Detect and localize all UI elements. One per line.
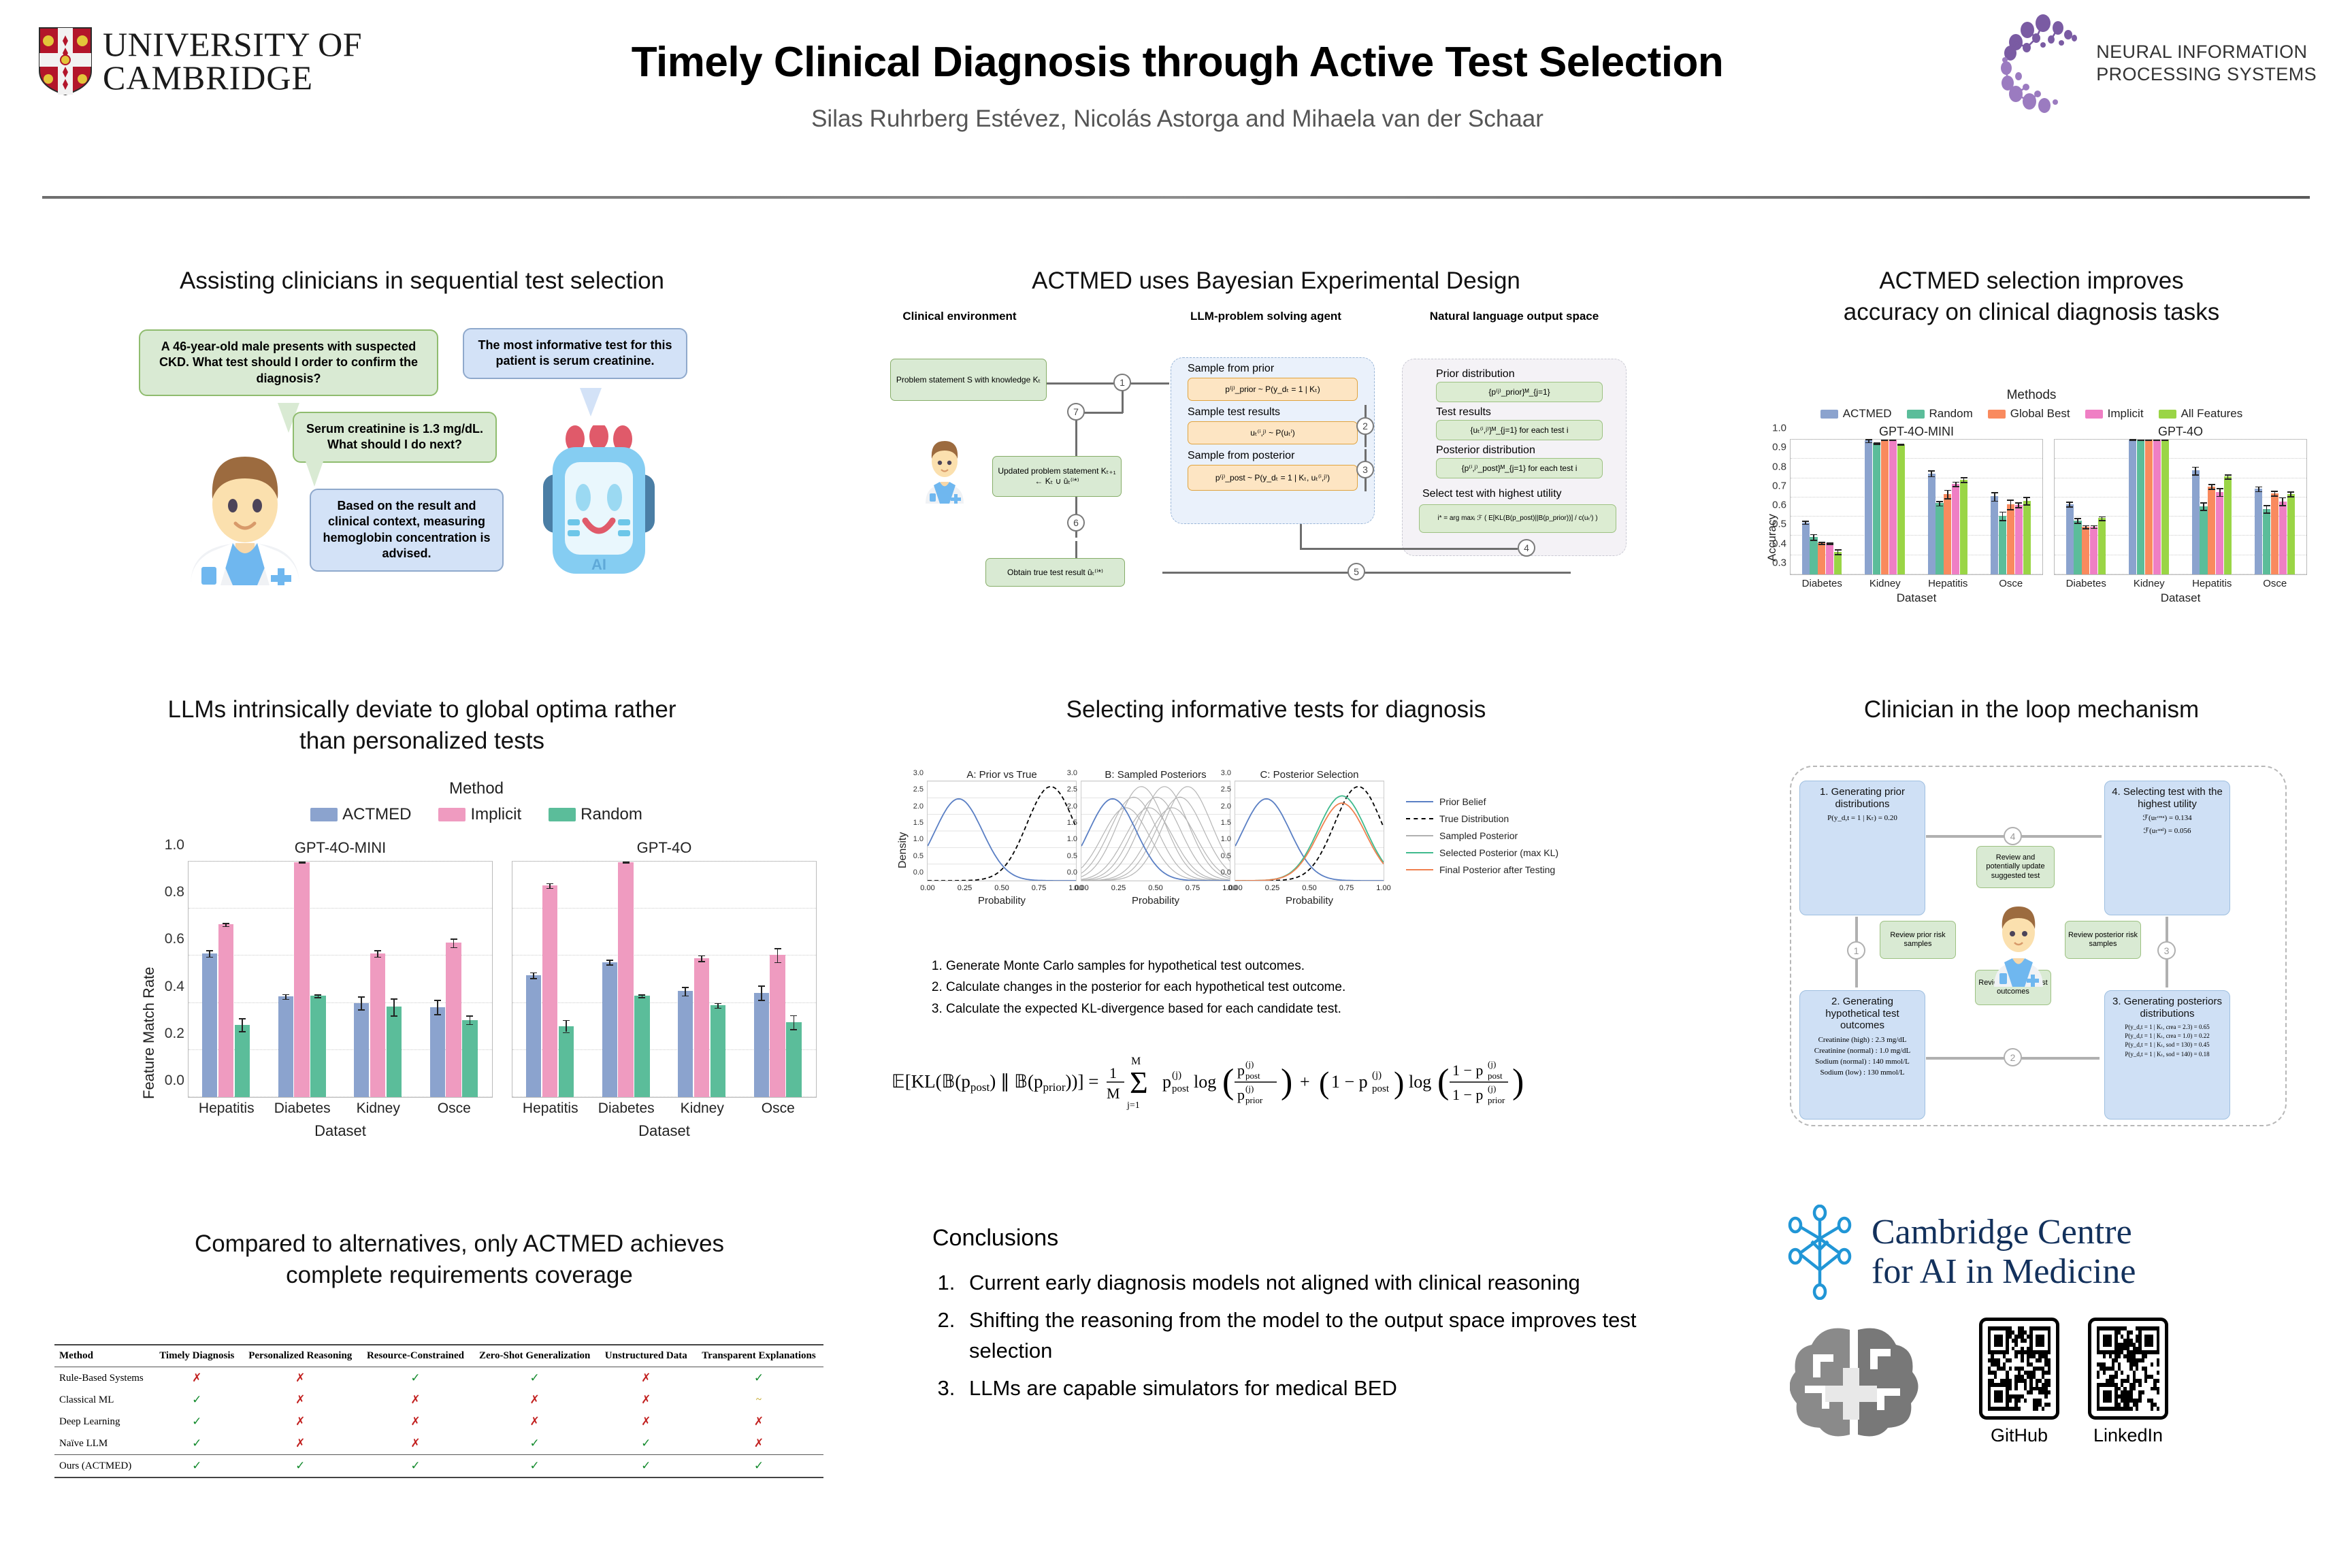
error-cap	[1889, 440, 1896, 441]
speech-bubble-ai-2: Based on the result and clinical context…	[310, 489, 504, 572]
agent-eq-posterior: p⁽ʲ⁾_post ~ P(y_dₜ = 1 | Kₜ, uₜ⁽ⁱ,ʲ⁾)	[1188, 465, 1358, 491]
error-bar	[361, 996, 362, 1009]
accuracy-facet-1-title: GPT-4O-MINI	[1790, 425, 2043, 439]
svg-text:j=1: j=1	[1126, 1100, 1140, 1111]
ccaim-line-2: for AI in Medicine	[1872, 1252, 2136, 1292]
svg-text:(j): (j)	[1372, 1070, 1382, 1081]
svg-text:𝔼[KL(𝔹(ppost) ∥ 𝔹(pprior))]: 𝔼[KL(𝔹(ppost) ∥ 𝔹(pprior))] =	[892, 1071, 1098, 1094]
svg-text:post: post	[1245, 1071, 1260, 1081]
density-legend-item: Sampled Posterior	[1406, 830, 1558, 841]
bar	[710, 1005, 725, 1097]
error-cap	[1944, 498, 1951, 500]
error-cap	[2225, 478, 2232, 480]
error-cap	[2217, 496, 2223, 497]
bar	[2224, 476, 2232, 574]
cross-icon: ✗	[192, 1371, 201, 1384]
grid-line	[189, 861, 492, 862]
error-cap	[358, 1009, 365, 1011]
error-cap	[2007, 509, 2014, 510]
error-cap	[2091, 528, 2097, 529]
density-curve	[1081, 808, 1230, 881]
legend-label: Random	[581, 805, 642, 824]
loop-box-2-eq-2: Sodium (normal) : 140 mmol/L	[1804, 1057, 1921, 1068]
density-legend-line	[1406, 818, 1433, 819]
check-icon: ✓	[192, 1437, 201, 1450]
svg-text:1 − p: 1 − p	[1452, 1062, 1483, 1079]
flow-column-2-label: LLM-problem solving agent	[1167, 310, 1365, 323]
table-cell: ~	[694, 1389, 823, 1411]
table-cell: ✗	[241, 1367, 359, 1390]
legend-item: ACTMED	[310, 805, 411, 824]
loop-box-3-eq-1: P(y_d,t = 1 | Kₜ, crea = 1.0) = 0.22	[2109, 1032, 2225, 1041]
table-cell: ✗	[472, 1389, 598, 1411]
fm-xlabel-2: Dataset	[512, 1122, 817, 1140]
table-cell: ✗	[359, 1389, 471, 1411]
y-tick-label: 2.5	[913, 785, 928, 794]
x-tick-label: 0.75	[1032, 881, 1046, 892]
bar	[2066, 504, 2074, 574]
error-cap	[2066, 502, 2073, 503]
error-cap	[606, 960, 613, 961]
table-cell: ✗	[359, 1433, 471, 1455]
neurips-logo: NEURAL INFORMATION PROCESSING SYSTEMS	[1995, 12, 2317, 114]
loop-box-4-title: 4. Selecting test with the highest utili…	[2109, 786, 2225, 810]
svg-text:p: p	[1162, 1072, 1171, 1092]
error-cap	[451, 938, 457, 940]
output-eq-select: i* = arg maxᵢ ℱ ( E[KL(B(p_post)||B(p_pr…	[1419, 504, 1616, 533]
error-cap	[2192, 474, 2199, 476]
dens-xlabel-b: Probability	[1081, 895, 1230, 906]
dialogue-illustration: A 46-year-old male presents with suspect…	[122, 313, 817, 585]
loop-box-3-eq-0: P(y_d,t = 1 | Kₜ, crea = 2.3) = 0.65	[2109, 1023, 2225, 1032]
svg-text:(j): (j)	[1245, 1059, 1254, 1069]
flow-step-5: 5	[1347, 563, 1365, 581]
svg-text:p: p	[1237, 1062, 1245, 1079]
error-cap	[374, 950, 381, 951]
error-cap	[239, 1018, 246, 1019]
error-cap	[2200, 502, 2207, 504]
svg-text:+: +	[1300, 1072, 1310, 1092]
error-cap	[2153, 440, 2160, 441]
dens-xlabel-c: Probability	[1235, 895, 1384, 906]
bar	[2216, 492, 2223, 574]
density-legend-item: Final Posterior after Testing	[1406, 864, 1558, 875]
bar	[202, 953, 217, 1097]
cross-icon: ✗	[754, 1437, 764, 1450]
svg-text:(: (	[1319, 1065, 1329, 1100]
density-legend-label: Selected Posterior (max KL)	[1439, 847, 1558, 858]
svg-text:(: (	[1437, 1062, 1449, 1101]
bar	[2287, 494, 2295, 574]
dens-xlabel-a: Probability	[927, 895, 1077, 906]
bar	[1802, 523, 1810, 574]
accuracy-ylabel: Accuracy	[1765, 514, 1779, 561]
qr-label: GitHub	[1979, 1425, 2059, 1446]
table-cell: ✗	[598, 1367, 694, 1390]
error-cap	[1936, 506, 1943, 507]
conclusion-3: LLMs are capable simulators for medical …	[961, 1373, 1715, 1404]
svg-text:log: log	[1194, 1072, 1216, 1092]
table-column-header: Resource-Constrained	[359, 1345, 471, 1367]
density-curves	[1081, 781, 1230, 881]
bar	[1952, 484, 1959, 574]
error-cap	[1936, 501, 1943, 502]
bar	[2082, 527, 2089, 574]
conclusions-list: Current early diagnosis models not align…	[961, 1268, 1715, 1404]
accuracy-xlabel-1: Dataset	[1790, 591, 2043, 605]
error-cap	[2279, 505, 2286, 506]
density-legend-item: Selected Posterior (max KL)	[1406, 847, 1558, 858]
legend-label: Implicit	[2108, 407, 2144, 421]
qr-code-icon[interactable]	[1979, 1318, 2059, 1420]
density-curves	[928, 781, 1076, 881]
author-list: Silas Ruhrberg Estévez, Nicolás Astorga …	[436, 105, 1919, 133]
error-cap	[1865, 439, 1872, 440]
table-cell-method: Rule-Based Systems	[54, 1367, 152, 1390]
error-cap	[2015, 507, 2022, 508]
table-cell: ✗	[694, 1433, 823, 1455]
legend-item: All Features	[2159, 407, 2243, 421]
table-cell: ✓	[598, 1433, 694, 1455]
y-tick-label: 3.0	[913, 769, 928, 777]
bubble-tail-2	[580, 388, 602, 416]
error-cap	[391, 998, 397, 1000]
error-cap	[2082, 525, 2089, 527]
bar	[542, 885, 557, 1097]
bar	[1935, 503, 1943, 574]
kl-divergence-formula: 𝔼[KL(𝔹(ppost) ∥ 𝔹(pprior))] = 1 M Σ M j=…	[892, 1048, 1667, 1118]
x-tick-label: Diabetes	[598, 1097, 655, 1117]
bar	[1873, 443, 1880, 574]
speech-bubble-clinician-2: Serum creatinine is 1.3 mg/dL. What shou…	[293, 412, 497, 463]
error-cap	[1874, 444, 1880, 445]
bar	[2129, 440, 2136, 574]
y-tick-label: 0.0	[165, 1073, 189, 1089]
loop-box-2-eq-0: Creatinine (high) : 2.3 mg/dL	[1804, 1035, 1921, 1046]
table-cell: ✗	[241, 1411, 359, 1433]
error-cap	[2279, 497, 2286, 499]
output-head-posterior: Posterior distribution	[1436, 444, 1535, 457]
table-header-row: MethodTimely DiagnosisPersonalized Reaso…	[54, 1345, 823, 1367]
accuracy-plot-mini: 0.30.40.50.60.70.80.91.0DiabetesKidneyHe…	[1790, 439, 2043, 575]
loop-box-3-eq-2: P(y_d,t = 1 | Kₜ, sod = 130) = 0.45	[2109, 1041, 2225, 1049]
table-cell: ✓	[472, 1433, 598, 1455]
flow-step-6: 6	[1067, 514, 1085, 532]
cambridge-logo: UNIVERSITY OF CAMBRIDGE	[37, 26, 362, 97]
clinician-small-icon	[920, 436, 969, 504]
bar	[559, 1026, 574, 1097]
bar	[294, 862, 309, 1097]
grid-line	[1791, 497, 2042, 497]
error-cap	[1961, 477, 1967, 478]
error-cap	[2255, 491, 2262, 493]
bar	[370, 953, 385, 1097]
loop-box-3: 3. Generating posteriors distributions P…	[2104, 990, 2230, 1120]
error-cap	[682, 987, 689, 988]
svg-text:Σ: Σ	[1130, 1065, 1148, 1100]
legend-label: Implicit	[470, 805, 521, 824]
x-tick-label: 1.00	[1376, 881, 1390, 892]
density-legend: Prior BeliefTrue DistributionSampled Pos…	[1406, 796, 1558, 906]
qr-code-icon[interactable]	[2088, 1318, 2168, 1420]
dens-title-a: A: Prior vs True	[927, 769, 1077, 781]
y-tick-label: 1.5	[913, 819, 928, 827]
legend-swatch	[1907, 410, 1925, 419]
neurips-wordmark: NEURAL INFORMATION PROCESSING SYSTEMS	[2096, 41, 2317, 86]
conclusion-2: Shifting the reasoning from the model to…	[961, 1305, 1715, 1367]
y-tick-label: 1.0	[1221, 835, 1235, 843]
error-cap	[1865, 442, 1872, 444]
bar	[754, 993, 769, 1097]
legend-item: Implicit	[438, 805, 521, 824]
bar	[2208, 487, 2215, 574]
svg-text:p: p	[1237, 1086, 1245, 1103]
error-cap	[206, 950, 213, 951]
legend-swatch	[2159, 410, 2176, 419]
section-heading-assisting: Assisting clinicians in sequential test …	[82, 265, 762, 297]
check-icon: ✓	[192, 1415, 201, 1428]
legend-item: Implicit	[2085, 407, 2144, 421]
x-tick-label: Hepatitis	[1928, 574, 1967, 589]
y-tick-label: 0.0	[913, 868, 928, 877]
table-cell: ✗	[359, 1411, 471, 1433]
svg-text:M: M	[1107, 1085, 1120, 1102]
qr-code-linkedin[interactable]: LinkedIn	[2088, 1318, 2168, 1446]
y-tick-label: 3.0	[1221, 769, 1235, 777]
grid-line	[2055, 478, 2306, 478]
qr-label: LinkedIn	[2088, 1425, 2168, 1446]
section-heading-bed: ACTMED uses Bayesian Experimental Design	[885, 265, 1667, 297]
svg-text:(j): (j)	[1172, 1070, 1181, 1081]
y-tick-label: 3.0	[1067, 769, 1081, 777]
brain-plus-icon	[1790, 1318, 1919, 1447]
error-cap	[2271, 495, 2278, 497]
cross-icon: ✗	[754, 1415, 764, 1428]
bar	[1889, 440, 1897, 574]
error-bar	[393, 998, 395, 1015]
table-cell: ✓	[152, 1455, 241, 1478]
error-cap	[2287, 491, 2294, 493]
agent-eq-testresults: uₜ⁽ⁱ,ʲ⁾ ~ P(uₜⁱ)	[1188, 421, 1358, 444]
density-curve	[1081, 799, 1230, 881]
error-cap	[239, 1031, 246, 1032]
grid-line	[512, 861, 816, 862]
svg-text:post: post	[1488, 1071, 1503, 1081]
density-legend-line	[1406, 852, 1433, 853]
table-column-header: Method	[54, 1345, 152, 1367]
s7-line1: Compared to alternatives, only ACTMED ac…	[68, 1228, 851, 1260]
table-cell: ✓	[694, 1455, 823, 1478]
bar	[430, 1007, 445, 1097]
error-bar	[777, 948, 779, 962]
check-icon: ✓	[754, 1371, 764, 1384]
x-tick-label: Hepatitis	[199, 1097, 255, 1117]
density-curve	[1235, 787, 1384, 881]
bar	[2161, 440, 2169, 574]
bar	[235, 1025, 250, 1097]
bar	[1991, 496, 1998, 574]
bar	[1865, 440, 1872, 574]
loop-step-2: 2	[2004, 1048, 2022, 1066]
loop-box-4: 4. Selecting test with the highest utili…	[2104, 781, 2230, 915]
accuracy-legend-title: Methods	[1756, 388, 2307, 403]
x-tick-label: 0.25	[1265, 881, 1279, 892]
bar	[2200, 506, 2207, 574]
y-tick-label: 0.0	[1067, 868, 1081, 877]
grid-line	[1791, 458, 2042, 459]
error-cap	[638, 994, 645, 996]
error-cap	[1944, 490, 1951, 491]
error-cap	[1818, 542, 1825, 543]
loop-step-4: 4	[2004, 827, 2022, 845]
check-icon: ✓	[530, 1459, 540, 1472]
table-column-header: Timely Diagnosis	[152, 1345, 241, 1367]
grid-line	[512, 908, 816, 909]
error-cap	[2007, 500, 2014, 501]
agent-head-posterior: Sample from posterior	[1188, 450, 1358, 462]
table-cell: ✓	[152, 1389, 241, 1411]
ccaim-network-icon	[1783, 1205, 1857, 1300]
error-cap	[1810, 534, 1817, 536]
y-tick-label: 0.5	[1067, 852, 1081, 860]
legend-swatch	[310, 808, 338, 821]
table-cell: ✓	[152, 1433, 241, 1455]
clinician-loop-diagram: 1. Generating prior distributions P(y_d,…	[1790, 766, 2287, 1126]
error-cap	[1881, 440, 1888, 441]
y-tick-label: 0.5	[1221, 852, 1235, 860]
error-cap	[434, 1014, 441, 1015]
error-cap	[2082, 528, 2089, 529]
bar	[678, 991, 693, 1097]
error-cap	[2099, 520, 2106, 521]
x-tick-label: 0.25	[1111, 881, 1126, 892]
bar	[602, 962, 617, 1097]
cross-icon: ✗	[641, 1415, 651, 1428]
error-cap	[282, 999, 289, 1000]
error-cap	[1991, 501, 1998, 502]
bar	[1897, 444, 1905, 574]
density-plot-c: 0.00.51.01.52.02.53.00.000.250.500.751.0…	[1235, 781, 1384, 881]
loop-box-3-title: 3. Generating posteriors distributions	[2109, 996, 2225, 1019]
density-legend-item: Prior Belief	[1406, 796, 1558, 807]
accuracy-chart: Methods ACTMEDRandomGlobal BestImplicitA…	[1756, 388, 2307, 605]
table-row: Deep Learning✓✗✗✗✗✗	[54, 1411, 823, 1433]
grid-line	[2055, 458, 2306, 459]
method-steps-list: Generate Monte Carlo samples for hypothe…	[946, 956, 1627, 1020]
bar	[2263, 509, 2270, 574]
x-tick-label: Kidney	[681, 1097, 724, 1117]
grid-line	[189, 908, 492, 909]
legend-swatch	[1988, 410, 2006, 419]
x-tick-label: 0.50	[1148, 881, 1162, 892]
error-cap	[2200, 510, 2207, 511]
flow-box-obtain-result: Obtain true test result ûₜ⁽ⁱ*⁾	[985, 558, 1125, 587]
qr-row: GitHubLinkedIn	[1783, 1318, 2327, 1447]
s4-line1: LLMs intrinsically deviate to global opt…	[82, 694, 762, 725]
bar	[218, 924, 233, 1097]
legend-swatch	[2085, 410, 2103, 419]
check-icon: ✓	[530, 1437, 540, 1450]
error-cap	[299, 862, 306, 864]
table-row: Naïve LLM✓✗✗✓✓✗	[54, 1433, 823, 1455]
svg-text:M: M	[1131, 1056, 1141, 1067]
bar	[2145, 440, 2153, 574]
legend-item: Random	[549, 805, 642, 824]
error-bar	[437, 1000, 438, 1014]
fm-legend-title: Method	[136, 779, 817, 798]
error-bar	[2219, 488, 2221, 495]
y-tick-label: 0.8	[165, 884, 189, 900]
cambridge-line-2: CAMBRIDGE	[103, 61, 362, 95]
error-cap	[466, 1015, 473, 1017]
acc-head-line2: accuracy on clinical diagnosis tasks	[1749, 297, 2314, 328]
qr-codes: GitHubLinkedIn	[1979, 1318, 2168, 1446]
table-column-header: Transparent Explanations	[694, 1345, 823, 1367]
bar	[354, 1003, 369, 1097]
error-cap	[223, 926, 229, 928]
fm-facet-2-title: GPT-4O	[512, 839, 817, 857]
conn-4a	[1300, 524, 1302, 550]
error-cap	[2074, 523, 2081, 524]
flow-step-7: 7	[1067, 403, 1085, 421]
error-cap	[1818, 544, 1825, 545]
table-cell: ✓	[359, 1367, 471, 1390]
y-tick-label: 0.0	[1221, 868, 1235, 877]
cambridge-line-1: UNIVERSITY OF	[103, 28, 362, 61]
qr-code-github[interactable]: GitHub	[1979, 1318, 2059, 1446]
bed-flow-diagram: Clinical environment LLM-problem solving…	[878, 310, 1681, 623]
svg-text:1: 1	[1109, 1064, 1117, 1081]
neurips-mark-icon	[1995, 12, 2085, 114]
accuracy-legend: ACTMEDRandomGlobal BestImplicitAll Featu…	[1756, 407, 2307, 421]
legend-label: ACTMED	[342, 805, 411, 824]
bar	[2007, 504, 2014, 574]
table-cell: ✓	[472, 1455, 598, 1478]
table-cell: ✗	[241, 1389, 359, 1411]
cross-icon: ✗	[530, 1393, 540, 1406]
loop-box-1-eq-0: P(y_d,t = 1 | Kₜ) = 0.20	[1804, 813, 1921, 824]
speech-bubble-ai-1: The most informative test for this patie…	[463, 328, 687, 379]
legend-label: All Features	[2181, 407, 2243, 421]
x-tick-label: 0.00	[920, 881, 934, 892]
x-tick-label: 0.25	[958, 881, 972, 892]
error-bar	[2195, 467, 2196, 474]
legend-swatch	[549, 808, 576, 821]
section-heading-informative: Selecting informative tests for diagnosi…	[885, 694, 1667, 725]
fm-plot-4o: 0.00.20.40.60.81.0HepatitisDiabetesKidne…	[512, 861, 817, 1098]
error-cap	[466, 1024, 473, 1026]
flow-step-3: 3	[1356, 461, 1374, 478]
svg-text:(j): (j)	[1488, 1083, 1496, 1094]
table-cell: ✓	[359, 1455, 471, 1478]
accuracy-facet-2-title: GPT-4O	[2054, 425, 2307, 439]
error-cap	[758, 985, 765, 987]
x-tick-label: Osce	[762, 1097, 795, 1117]
section-heading-llm-deviate: LLMs intrinsically deviate to global opt…	[82, 694, 762, 756]
check-icon: ✓	[410, 1459, 420, 1472]
error-cap	[758, 1000, 765, 1001]
error-cap	[1961, 482, 1967, 483]
ccaim-panel: Cambridge Centre for AI in Medicine GitH…	[1783, 1205, 2327, 1447]
table-cell: ✗	[241, 1433, 359, 1455]
loop-box-2-eq-1: Creatinine (normal) : 1.0 mg/dL	[1804, 1046, 1921, 1057]
section-heading-clinician-loop: Clinician in the loop mechanism	[1749, 694, 2314, 725]
legend-swatch	[438, 808, 465, 821]
y-tick-label: 0.2	[165, 1026, 189, 1042]
y-tick-label: 0.7	[1772, 480, 1791, 491]
error-cap	[774, 962, 781, 964]
error-cap	[790, 1015, 797, 1017]
